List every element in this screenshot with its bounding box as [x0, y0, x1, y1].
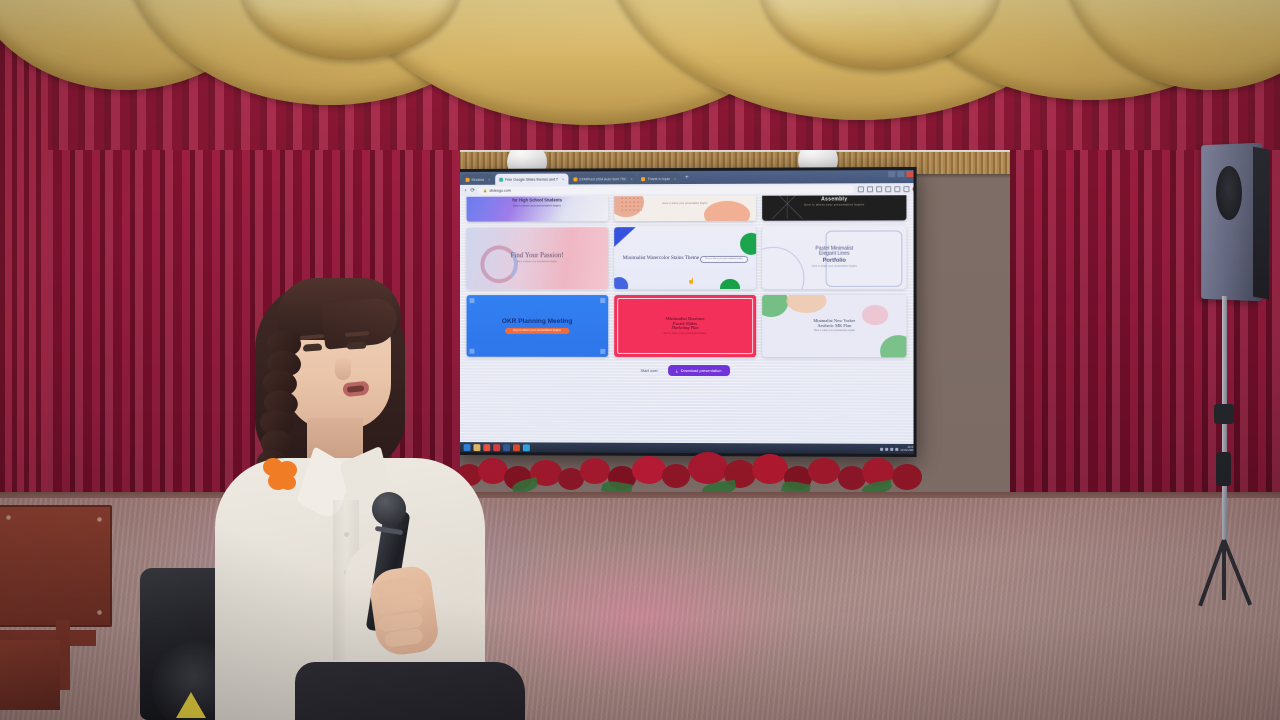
card-title-block: Minimalist New Yorker Aesthetic MK Plan … [807, 319, 861, 334]
blob-shape-icon [740, 233, 756, 255]
tab-label: Thank to topic [648, 177, 671, 181]
share-icon[interactable] [894, 186, 900, 192]
page-actions: Start over ⤓ Download presentation [467, 365, 907, 377]
browser-tab-0[interactable]: Mudasa × [462, 174, 494, 185]
lock-icon: 🔒 [483, 189, 487, 193]
back-arrow-icon[interactable]: ‹ [465, 188, 467, 194]
extension-icon[interactable] [867, 186, 873, 192]
card-subtitle: Here is where your presentation begins [662, 202, 707, 205]
tab-favicon-icon [499, 177, 503, 181]
browser-window: Mudasa × Free Google Slides themes and T… [460, 170, 914, 454]
stage-flower-garland [452, 452, 922, 496]
tray-chevron-icon[interactable] [880, 447, 883, 450]
tab-favicon-icon [642, 177, 646, 181]
eye [347, 342, 366, 350]
tray-battery-icon[interactable] [895, 447, 898, 450]
dot-pattern-icon [620, 195, 642, 212]
chair [0, 640, 60, 710]
wooden-desk [0, 505, 112, 627]
slidesgo-page: for High School Students Here is where y… [460, 195, 914, 444]
tab-close-icon[interactable]: × [674, 177, 676, 181]
card-title-block: Assembly Here is where your presentation… [798, 197, 871, 208]
tab-favicon-icon [573, 177, 577, 181]
card-title: Find Your Passion! [511, 251, 564, 259]
skirt [295, 662, 525, 720]
card-title: Assembly [821, 196, 847, 202]
speaker-stand-clamp [1216, 452, 1231, 486]
card-title-block: Find Your Passion! Here is where your pr… [505, 252, 570, 265]
template-card[interactable]: Pastel Minimalist Elegant Lines Portfoli… [762, 226, 906, 289]
tray-volume-icon[interactable] [890, 447, 893, 450]
template-grid: for High School Students Here is where y… [467, 198, 907, 357]
tab-close-icon[interactable]: × [630, 177, 632, 181]
card-subtitle: Here is where your presentation begins [511, 262, 564, 265]
blob-shape-icon [787, 295, 827, 313]
star-icon[interactable] [885, 186, 891, 192]
triangle-shape-icon [614, 227, 636, 247]
speaker-cone-icon [1216, 166, 1242, 220]
card-subtitle: Here is where your presentation begins [812, 266, 858, 269]
card-title: for High School Students [512, 198, 562, 203]
telegram-icon[interactable] [523, 444, 530, 451]
blob-shape-icon [762, 295, 788, 317]
template-card[interactable]: Minimalist Watercolor Stains Theme Here … [614, 227, 757, 289]
card-subtitle: Here is where your presentation begins [700, 256, 747, 263]
circle-line-icon [762, 247, 804, 289]
tab-label: Free Google Slides themes and T [505, 177, 558, 181]
card-cta-button: Here is where your presentation begins [505, 328, 569, 334]
profile-avatar[interactable] [913, 186, 914, 192]
corner-marker-icon [600, 298, 605, 303]
shirt-button [344, 532, 349, 537]
browser-tab-1[interactable]: Free Google Slides themes and T × [495, 174, 568, 185]
mouse-cursor-icon: ☝ [688, 278, 695, 285]
card-title-block: Minimalist Duotone Pastel Slides Marketi… [657, 316, 712, 336]
close-icon[interactable] [906, 171, 913, 177]
card-title-line2: Aesthetic MK Plan [817, 323, 851, 328]
bookmark-icon[interactable] [876, 186, 882, 192]
download-label: Download presentation [681, 368, 722, 373]
browser-tab-2[interactable]: STARKed sIDA Auto feeli 75C × [569, 173, 636, 184]
orange-ribbon [263, 458, 299, 496]
blob-shape-icon [862, 305, 888, 325]
pa-speaker-side [1253, 147, 1269, 300]
tab-close-icon[interactable]: × [562, 177, 564, 181]
minimize-icon[interactable] [888, 171, 895, 177]
card-title-line3: Portfolio [823, 258, 846, 264]
download-presentation-button[interactable]: ⤓ Download presentation [668, 365, 730, 376]
auditorium-scene: Mudasa × Free Google Slides themes and T… [0, 0, 1280, 720]
tab-close-icon[interactable]: × [488, 177, 490, 181]
omnibox-actions[interactable] [858, 186, 914, 192]
address-input[interactable]: 🔒 slidesgo.com [479, 185, 854, 194]
download-icon: ⤓ [676, 368, 678, 373]
card-subtitle: Here is where your presentation begins [813, 331, 855, 334]
card-title-line3: Marketing Plan [663, 326, 706, 331]
student-presenter [195, 270, 495, 720]
tab-favicon-icon [466, 177, 470, 181]
card-title-block: Here is where your presentation begins [656, 200, 713, 205]
template-card[interactable]: for High School Students Here is where y… [467, 195, 608, 221]
tripod-leg [1222, 540, 1226, 600]
card-title: OKR Planning Meeting [502, 318, 572, 325]
powerpoint-icon[interactable] [513, 444, 520, 451]
tab-label: STARKed sIDA Auto feeli 75C [579, 177, 626, 181]
nose [335, 356, 351, 380]
card-subtitle: Here is where your presentation begins [804, 205, 865, 208]
template-card[interactable]: Assembly Here is where your presentation… [762, 195, 906, 221]
start-over-button[interactable]: Start over [641, 368, 658, 373]
word-icon[interactable] [503, 444, 510, 451]
projection-screen: Mudasa × Free Google Slides themes and T… [457, 167, 917, 457]
card-title-line2: Elegant Lines [819, 251, 850, 257]
sidebar-icon[interactable] [903, 186, 909, 192]
card-title: Minimalist Watercolor Stains Theme [623, 255, 699, 261]
speaker-stand-clamp [1214, 404, 1234, 424]
template-card[interactable]: Minimalist New Yorker Aesthetic MK Plan … [762, 295, 906, 357]
new-tab-button[interactable]: + [681, 173, 693, 184]
maximize-icon[interactable] [897, 171, 904, 177]
browser-tab-3[interactable]: Thank to topic × [638, 173, 681, 184]
tab-label: Mudasa [472, 177, 485, 181]
corner-marker-icon [600, 349, 605, 354]
card-title-block: Pastel Minimalist Elegant Lines Portfoli… [805, 246, 863, 269]
blob-shape-icon [614, 277, 628, 289]
card-title-block: for High School Students Here is where y… [506, 199, 568, 209]
template-card[interactable]: Here is where your presentation begins [614, 195, 757, 221]
card-title-block: Minimalist Watercolor Stains Theme Here … [614, 253, 754, 263]
tray-network-icon[interactable] [885, 447, 888, 450]
blob-shape-icon [720, 279, 740, 289]
search-icon[interactable] [858, 186, 864, 192]
reload-icon[interactable]: ⟳ [470, 188, 475, 194]
card-subtitle: Here is where your presentation begins [512, 205, 562, 208]
template-card[interactable]: Minimalist Duotone Pastel Slides Marketi… [614, 295, 757, 357]
blob-shape-icon [880, 335, 906, 357]
eye [303, 343, 322, 351]
url-text: slidesgo.com [489, 189, 511, 193]
card-subtitle: Here is where your presentation begins [663, 333, 706, 336]
window-controls[interactable] [888, 171, 913, 177]
